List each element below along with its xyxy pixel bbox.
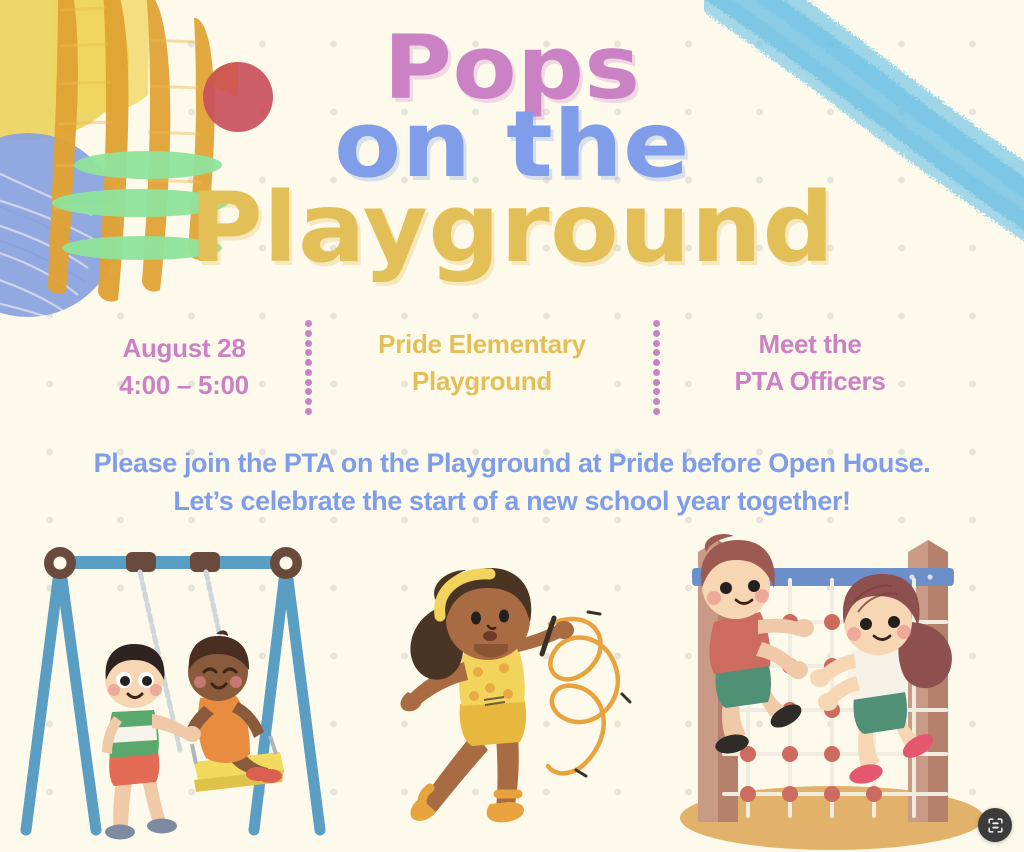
girl-with-ribbon-illustration: [378, 554, 638, 844]
dotted-divider-right: [647, 318, 665, 415]
event-location: Pride Elementary Playground: [317, 318, 647, 400]
description-line-1: Please join the PTA on the Playground at…: [0, 444, 1024, 482]
event-date-time: August 28 4:00 – 5:00: [69, 318, 299, 404]
child-pushing: [102, 644, 201, 840]
flyer-title: Pops on the Playground: [0, 28, 1024, 272]
event-feature-line1: Meet the: [758, 329, 861, 359]
event-feature-line2: PTA Officers: [665, 363, 955, 400]
illustration-row: [0, 522, 1024, 852]
event-feature: Meet the PTA Officers: [665, 318, 955, 400]
event-date: August 28: [123, 333, 246, 363]
title-line-playground: Playground: [0, 184, 1024, 272]
event-time: 4:00 – 5:00: [69, 367, 299, 404]
dotted-divider-left: [299, 318, 317, 415]
description-line-2: Let’s celebrate the start of a new schoo…: [0, 482, 1024, 520]
event-info-row: August 28 4:00 – 5:00 Pride Elementary P…: [0, 318, 1024, 418]
lens-scan-icon: [986, 816, 1005, 835]
climbing-net-illustration: [662, 530, 992, 850]
flyer-canvas: Pops on the Playground August 28 4:00 – …: [0, 0, 1024, 852]
lens-scan-button[interactable]: [978, 808, 1012, 842]
swing-set-illustration: [18, 530, 348, 850]
event-location-line2: Playground: [317, 363, 647, 400]
event-location-line1: Pride Elementary: [378, 329, 586, 359]
event-description: Please join the PTA on the Playground at…: [0, 444, 1024, 521]
